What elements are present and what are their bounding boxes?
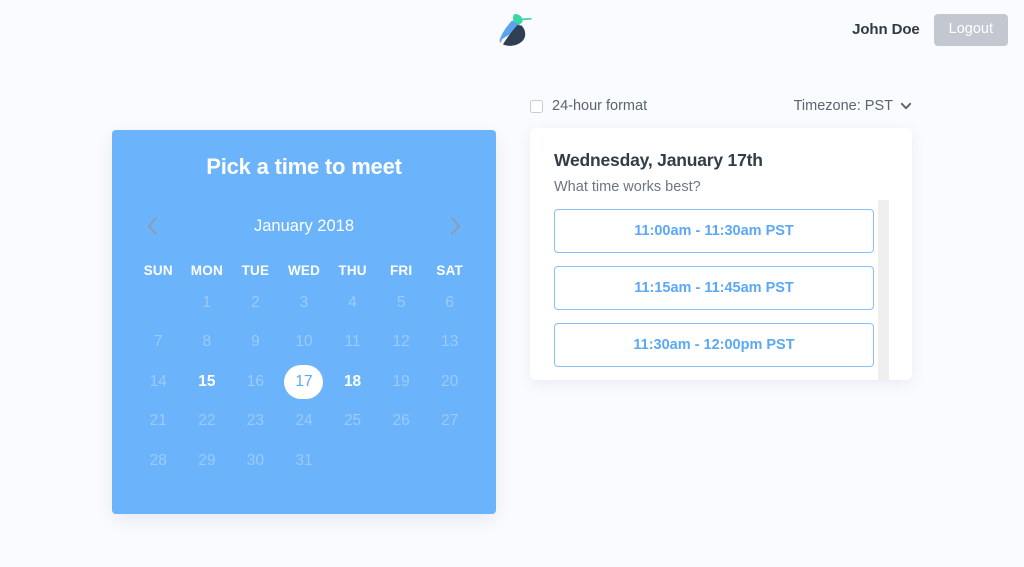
calendar-day-headers: SUNMONTUEWEDTHUFRISAT <box>134 263 474 278</box>
calendar-day-number: 19 <box>382 365 421 399</box>
calendar-day-14: 14 <box>134 362 183 402</box>
calendar-dow-fri: FRI <box>377 263 426 278</box>
calendar-day-number: 27 <box>430 404 469 438</box>
chevron-down-icon[interactable] <box>900 100 912 112</box>
calendar-dow-sun: SUN <box>134 263 183 278</box>
calendar-day-number: 31 <box>284 444 323 478</box>
calendar-day-30: 30 <box>231 441 280 481</box>
calendar-dow-thu: THU <box>328 263 377 278</box>
calendar-month-nav: January 2018 <box>134 213 474 239</box>
calendar-day-2: 2 <box>231 283 280 323</box>
calendar-day-number: 13 <box>430 325 469 359</box>
calendar-day-19: 19 <box>377 362 426 402</box>
calendar-month-label: January 2018 <box>164 217 444 236</box>
calendar-day-number: 6 <box>430 286 469 320</box>
calendar-day-23: 23 <box>231 402 280 442</box>
calendar-day-11: 11 <box>328 323 377 363</box>
calendar-day-6: 6 <box>425 283 474 323</box>
calendar-day-29: 29 <box>183 441 232 481</box>
calendar-day-25: 25 <box>328 402 377 442</box>
checkbox-icon[interactable] <box>530 100 543 113</box>
calendar-day-20: 20 <box>425 362 474 402</box>
time-slot-button[interactable]: 11:15am - 11:45am PST <box>554 266 874 310</box>
calendar-day-28: 28 <box>134 441 183 481</box>
calendar-day-21: 21 <box>134 402 183 442</box>
calendar-day-number: 23 <box>236 404 275 438</box>
calendar-day-number: 3 <box>284 286 323 320</box>
calendar-day-blank <box>134 283 183 323</box>
calendar-day-number: 24 <box>284 404 323 438</box>
time-slot-button[interactable]: 11:30am - 12:00pm PST <box>554 323 874 367</box>
calendar-day-3: 3 <box>280 283 329 323</box>
calendar-day-number: 18 <box>333 365 372 399</box>
time-slot-list: 11:00am - 11:30am PST11:15am - 11:45am P… <box>554 209 874 367</box>
calendar-day-number: 12 <box>382 325 421 359</box>
calendar-dow-wed: WED <box>280 263 329 278</box>
calendar-day-4: 4 <box>328 283 377 323</box>
24-hour-format-toggle[interactable]: 24-hour format <box>530 98 647 114</box>
calendar-day-number: 2 <box>236 286 275 320</box>
time-slots-card: Wednesday, January 17th What time works … <box>530 128 912 380</box>
calendar-day-8: 8 <box>183 323 232 363</box>
time-prompt-label: What time works best? <box>554 179 888 195</box>
calendar-day-number: 30 <box>236 444 275 478</box>
calendar-day-number: 20 <box>430 365 469 399</box>
calendar-day-number: 7 <box>139 325 178 359</box>
calendar-dow-tue: TUE <box>231 263 280 278</box>
calendar-day-17[interactable]: 17 <box>280 362 329 402</box>
calendar-dow-mon: MON <box>183 263 232 278</box>
header-account-controls: John Doe Logout <box>852 14 1008 46</box>
calendar-day-1: 1 <box>183 283 232 323</box>
calendar-day-31: 31 <box>280 441 329 481</box>
calendar-day-15[interactable]: 15 <box>183 362 232 402</box>
page-header: John Doe Logout <box>0 0 1024 66</box>
time-slot-button[interactable]: 11:00am - 11:30am PST <box>554 209 874 253</box>
calendar-day-number: 9 <box>236 325 275 359</box>
calendar-day-number: 26 <box>382 404 421 438</box>
calendar-day-22: 22 <box>183 402 232 442</box>
calendar-day-number: 15 <box>187 365 226 399</box>
calendar-day-number: 29 <box>187 444 226 478</box>
calendar-day-16: 16 <box>231 362 280 402</box>
calendar-day-number: 1 <box>187 286 226 320</box>
calendar-day-number: 4 <box>333 286 372 320</box>
calendar-day-5: 5 <box>377 283 426 323</box>
chevron-right-icon[interactable] <box>444 213 466 239</box>
options-row: 24-hour format Timezone: PST <box>530 98 912 114</box>
calendar-day-number: 28 <box>139 444 178 478</box>
user-name: John Doe <box>852 21 920 38</box>
timezone-label: Timezone: PST <box>794 98 893 114</box>
calendar-day-number: 14 <box>139 365 178 399</box>
calendar-day-12: 12 <box>377 323 426 363</box>
24-hour-format-label: 24-hour format <box>552 98 647 114</box>
calendar-day-24: 24 <box>280 402 329 442</box>
calendar-day-number: 25 <box>333 404 372 438</box>
calendar-title: Pick a time to meet <box>134 130 474 180</box>
calendar-day-number: 16 <box>236 365 275 399</box>
timezone-selector[interactable]: Timezone: PST <box>794 98 912 114</box>
calendar-day-18[interactable]: 18 <box>328 362 377 402</box>
calendar-day-9: 9 <box>231 323 280 363</box>
calendar-day-number: 10 <box>284 325 323 359</box>
time-slots-scrollbar[interactable] <box>878 200 889 380</box>
calendar-days-grid: 1234567891011121314151617181920212223242… <box>134 283 474 481</box>
calendar-day-7: 7 <box>134 323 183 363</box>
chevron-left-icon[interactable] <box>142 213 164 239</box>
selected-date-heading: Wednesday, January 17th <box>554 150 888 171</box>
calendar-day-number: 17 <box>284 365 323 399</box>
calendar-day-27: 27 <box>425 402 474 442</box>
calendar-panel: Pick a time to meet January 2018 SUNMONT… <box>112 130 496 514</box>
logout-button[interactable]: Logout <box>934 14 1008 46</box>
calendar-day-13: 13 <box>425 323 474 363</box>
calendar-day-number: 5 <box>382 286 421 320</box>
calendar-dow-sat: SAT <box>425 263 474 278</box>
calendar-day-number: 8 <box>187 325 226 359</box>
calendar-day-number: 21 <box>139 404 178 438</box>
calendar-day-number: 22 <box>187 404 226 438</box>
calendar-day-26: 26 <box>377 402 426 442</box>
calendar-day-10: 10 <box>280 323 329 363</box>
hummingbird-logo <box>491 10 533 56</box>
calendar-day-number: 11 <box>333 325 372 359</box>
